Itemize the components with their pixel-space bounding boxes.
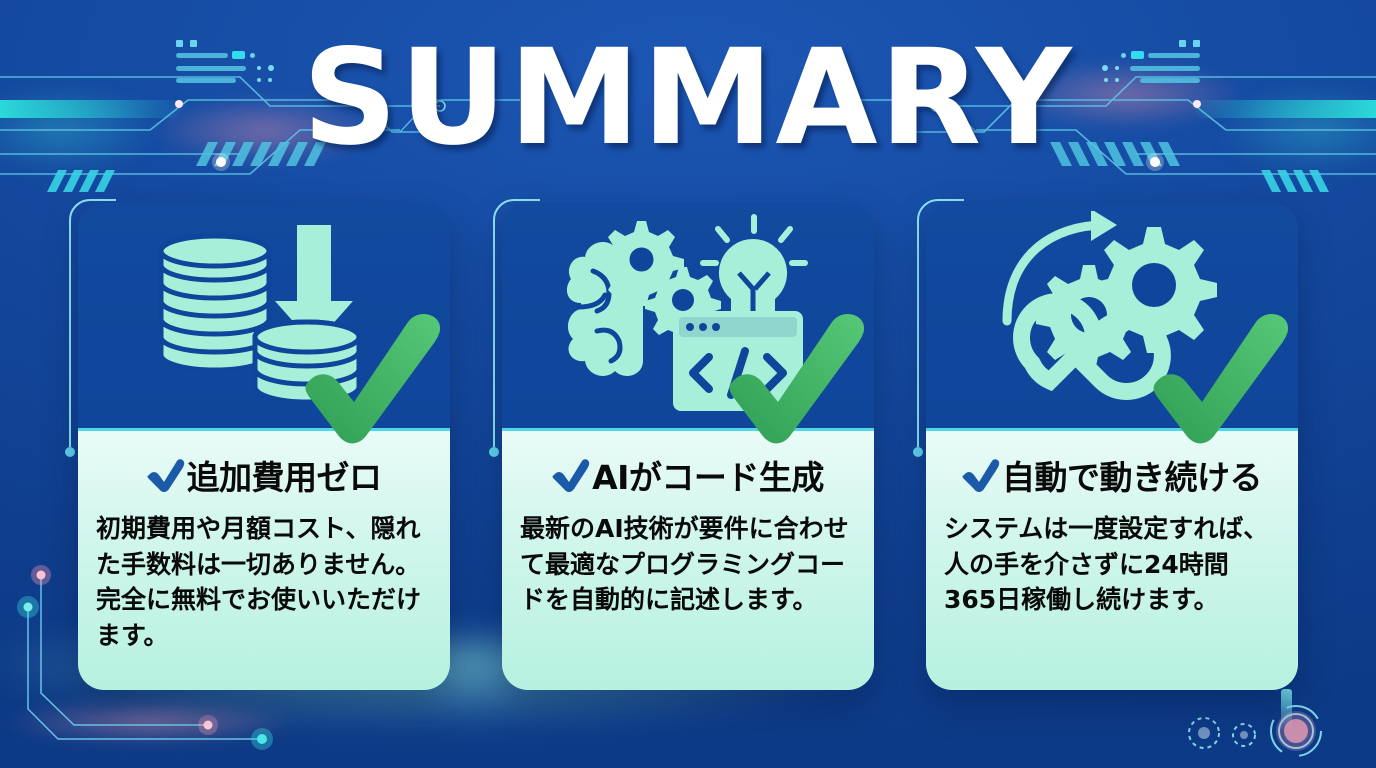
card-heading-row-2: AIがコード生成 (520, 447, 856, 503)
summary-card-ai-code[interactable]: AIがコード生成 最新のAI技術が要件に合わせて最適なプログラミングコードを自動… (502, 203, 874, 690)
ambient-glow-pink-bottom (0, 700, 300, 744)
green-check-icon (296, 306, 446, 446)
card-text-area-3: 自動で動き続ける システムは一度設定すれば、人の手を介さずに24時間365日稼働… (926, 431, 1298, 690)
summary-card-automation[interactable]: 自動で動き続ける システムは一度設定すれば、人の手を介さずに24時間365日稼働… (926, 203, 1298, 690)
card-description-1: 初期費用や月額コスト、隠れた手数料は一切ありません。完全に無料でお使いいただけま… (96, 511, 432, 653)
card-heading-1: 追加費用ゼロ (187, 451, 382, 499)
card-icon-area-1 (78, 203, 450, 431)
blue-check-icon (552, 458, 590, 492)
green-check-icon (1144, 306, 1294, 446)
card-description-3: システムは一度設定すれば、人の手を介さずに24時間365日稼働し続けます。 (944, 511, 1280, 618)
card-text-area-2: AIがコード生成 最新のAI技術が要件に合わせて最適なプログラミングコードを自動… (502, 431, 874, 690)
blue-check-icon (962, 458, 1000, 492)
card-icon-area-3 (926, 203, 1298, 431)
card-heading-2: AIがコード生成 (592, 451, 824, 499)
card-heading-3: 自動で動き続ける (1002, 451, 1262, 499)
card-description-2: 最新のAI技術が要件に合わせて最適なプログラミングコードを自動的に記述します。 (520, 511, 856, 618)
card-text-area-1: 追加費用ゼロ 初期費用や月額コスト、隠れた手数料は一切ありません。完全に無料でお… (78, 431, 450, 690)
blue-check-icon (147, 458, 185, 492)
card-icon-area-2 (502, 203, 874, 431)
card-heading-row-1: 追加費用ゼロ (96, 447, 432, 503)
card-heading-row-3: 自動で動き続ける (944, 447, 1280, 503)
slide-root: SUMMARY (0, 0, 1376, 768)
page-title: SUMMARY (0, 32, 1376, 164)
summary-card-cost[interactable]: 追加費用ゼロ 初期費用や月額コスト、隠れた手数料は一切ありません。完全に無料でお… (78, 203, 450, 690)
green-check-icon (720, 306, 870, 446)
summary-cards-row: 追加費用ゼロ 初期費用や月額コスト、隠れた手数料は一切ありません。完全に無料でお… (0, 203, 1376, 700)
